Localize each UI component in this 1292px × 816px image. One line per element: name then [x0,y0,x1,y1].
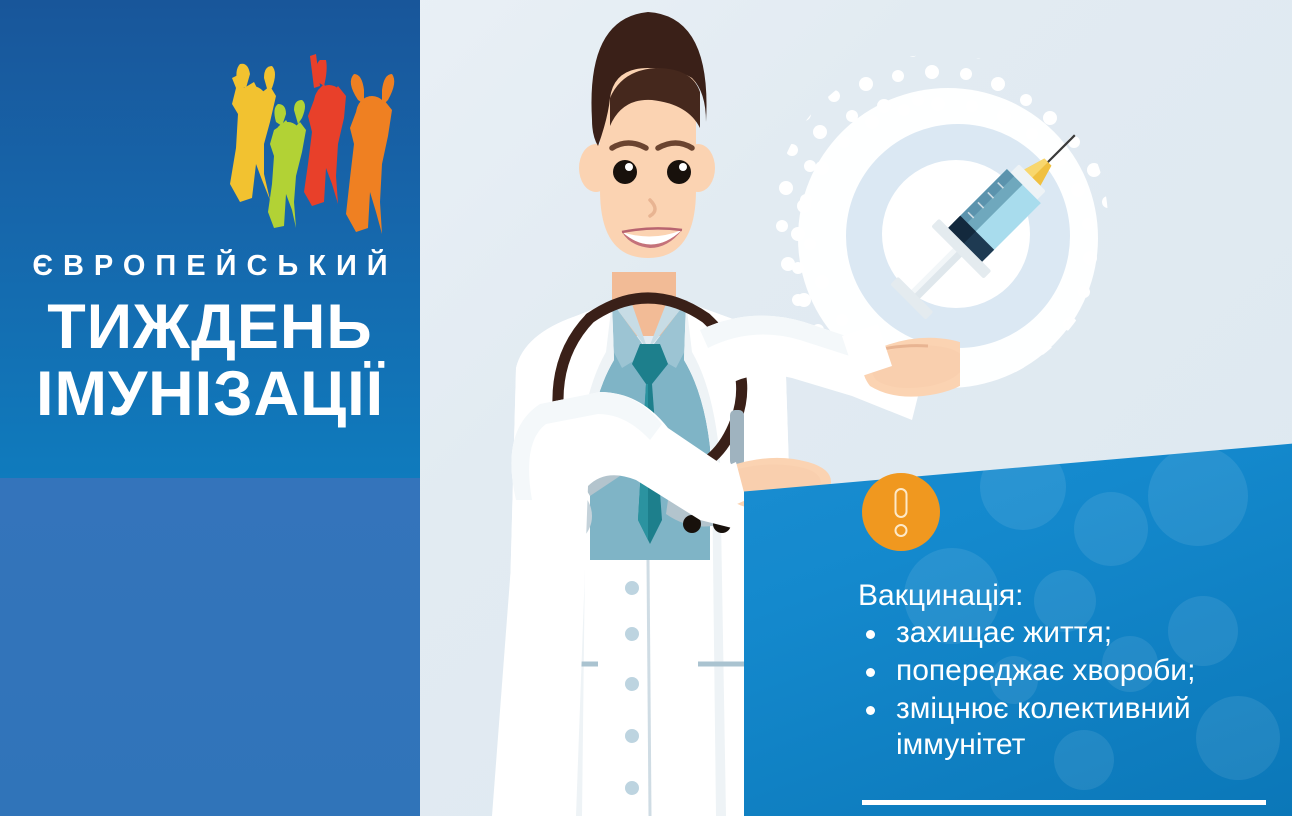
bokeh-circle [1074,492,1148,566]
exclamation-icon [862,473,940,551]
title-line-2: ІМУНІЗАЦІЇ [0,362,420,427]
list-item: захищає життя; [858,615,1278,652]
exclamation-dot [895,524,908,537]
bokeh-circle [1148,446,1248,546]
immunization-week-poster: ЄВРОПЕЙСЬКИЙ ТИЖДЕНЬ ІМУНІЗАЦІЇ Вакцинац… [0,0,1292,816]
page-title: ЄВРОПЕЙСЬКИЙ ТИЖДЕНЬ ІМУНІЗАЦІЇ [0,252,420,427]
benefits-list: захищає життя; попереджає хвороби; зміцн… [858,615,1278,763]
title-kicker: ЄВРОПЕЙСЬКИЙ [0,252,420,281]
list-item: зміцнює колективний іммунітет [858,691,1278,764]
left-panel-bottom [0,478,420,816]
title-line-1: ТИЖДЕНЬ [0,295,420,360]
benefits-copy: Вакцинація: захищає життя; попереджає хв… [858,578,1278,765]
list-item: попереджає хвороби; [858,653,1278,690]
benefits-lead: Вакцинація: [858,578,1278,613]
people-celebrating-logo [208,52,398,240]
bottom-divider [862,800,1266,805]
exclamation-stem [895,488,908,518]
